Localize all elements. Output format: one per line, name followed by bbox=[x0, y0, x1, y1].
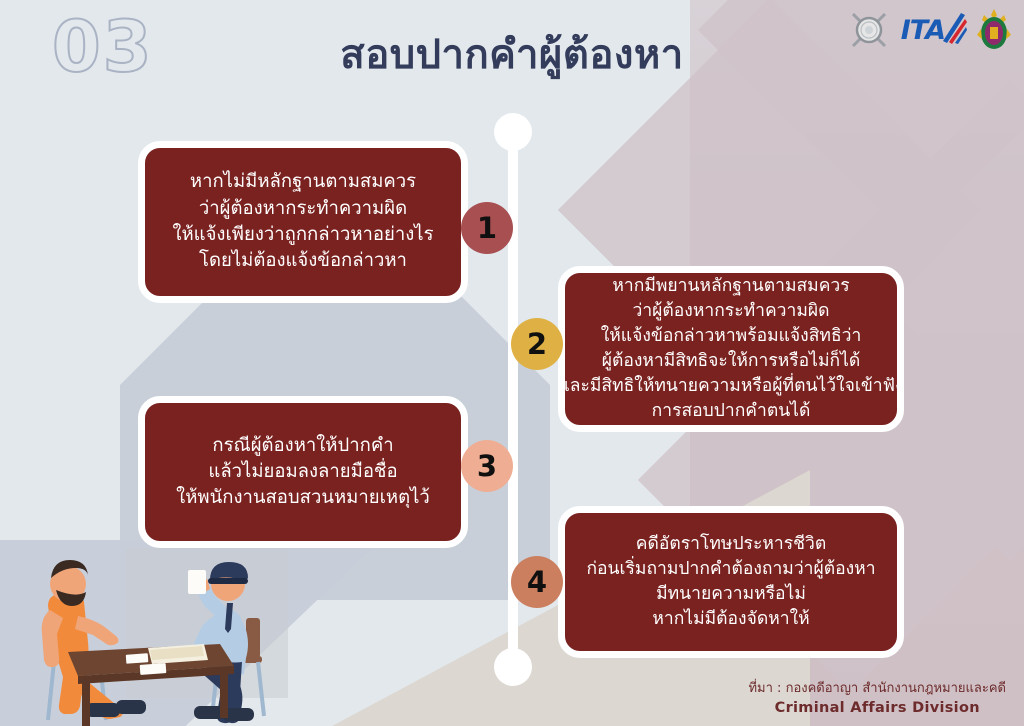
step-badge-1[interactable]: 1 bbox=[461, 202, 513, 254]
step-badge-4[interactable]: 4 bbox=[511, 556, 563, 608]
step-1-line-4: โดยไม่ต้องแจ้งข้อกล่าวหา bbox=[199, 248, 407, 274]
step-3-line-1: กรณีผู้ต้องหาให้ปากคำ bbox=[212, 433, 393, 459]
ita-swoosh-icon bbox=[941, 11, 967, 49]
step-3-line-3: ให้พนักงานสอบสวนหมายเหตุไว้ bbox=[176, 485, 430, 511]
step-card-4: คดีอัตราโทษประหารชีวิต ก่อนเริ่มถามปากคำ… bbox=[558, 506, 904, 658]
footer-source-thai: ที่มา : กองคดีอาญา สำนักงานกฎหมายและคดี bbox=[748, 679, 1006, 699]
timeline-start-node bbox=[494, 113, 532, 151]
garuda-emblem-icon bbox=[976, 7, 1012, 53]
step-2-line-6: การสอบปากคำตนได้ bbox=[652, 399, 811, 424]
step-1-line-3: ให้แจ้งเพียงว่าถูกกล่าวหาอย่างไร bbox=[172, 222, 433, 248]
step-2-line-4: ผู้ต้องหามีสิทธิจะให้การหรือไม่ก็ได้ bbox=[602, 349, 861, 374]
footer-source-english: Criminal Affairs Division bbox=[748, 698, 1006, 720]
step-4-line-4: หากไม่มีต้องจัดหาให้ bbox=[652, 607, 809, 632]
logo-row: ITA bbox=[846, 7, 1012, 53]
footer-source: ที่มา : กองคดีอาญา สำนักงานกฎหมายและคดี … bbox=[748, 679, 1006, 720]
ita-logo-text: ITA bbox=[901, 15, 945, 46]
step-1-line-2: ว่าผู้ต้องหากระทำความผิด bbox=[199, 196, 407, 222]
step-2-line-2: ว่าผู้ต้องหากระทำความผิด bbox=[633, 299, 830, 324]
interrogation-scene-illustration bbox=[8, 548, 288, 726]
step-1-line-1: หากไม่มีหลักฐานตามสมควร bbox=[190, 169, 416, 195]
step-card-2: หากมีพยานหลักฐานตามสมควร ว่าผู้ต้องหากระ… bbox=[558, 266, 904, 432]
police-emblem-icon bbox=[846, 7, 892, 53]
step-4-line-3: มีทนายความหรือไม่ bbox=[656, 582, 806, 607]
step-2-line-1: หากมีพยานหลักฐานตามสมควร bbox=[612, 274, 849, 299]
step-3-line-2: แล้วไม่ยอมลงลายมือชื่อ bbox=[208, 459, 397, 485]
step-card-3: กรณีผู้ต้องหาให้ปากคำ แล้วไม่ยอมลงลายมือ… bbox=[138, 396, 468, 548]
step-badge-3[interactable]: 3 bbox=[461, 440, 513, 492]
step-2-line-5: และมีสิทธิให้ทนายความหรือผู้ที่ตนไว้ใจเข… bbox=[558, 374, 903, 399]
step-4-line-2: ก่อนเริ่มถามปากคำต้องถามว่าผู้ต้องหา bbox=[586, 557, 875, 582]
ita-logo: ITA bbox=[901, 10, 967, 50]
step-card-1: หากไม่มีหลักฐานตามสมควร ว่าผู้ต้องหากระท… bbox=[138, 141, 468, 303]
timeline-end-node bbox=[494, 648, 532, 686]
page-header: 03 สอบปากคำผู้ต้องหา ITA bbox=[0, 0, 1024, 110]
step-4-line-1: คดีอัตราโทษประหารชีวิต bbox=[636, 532, 826, 557]
infographic-canvas: 03 สอบปากคำผู้ต้องหา ITA bbox=[0, 0, 1024, 726]
step-2-line-3: ให้แจ้งข้อกล่าวหาพร้อมแจ้งสิทธิว่า bbox=[601, 324, 862, 349]
step-badge-2[interactable]: 2 bbox=[511, 318, 563, 370]
